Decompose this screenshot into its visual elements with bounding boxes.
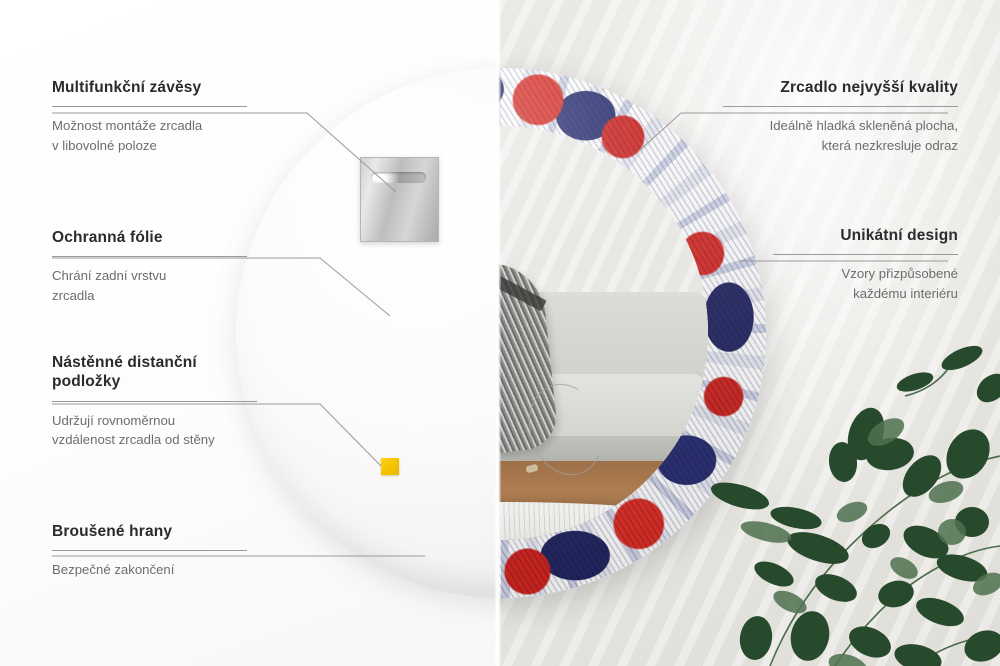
- callout-description: Ideálně hladká skleněná plocha, která ne…: [723, 116, 958, 154]
- panel-seam: [494, 0, 501, 666]
- callout-title: Multifunkční závěsy: [52, 78, 247, 97]
- callout-rule: [773, 254, 958, 255]
- callout-wall-distance-pads: Nástěnné distanční podložky Udržují rovn…: [52, 353, 257, 449]
- callout-description: Bezpečné zakončení: [52, 560, 247, 579]
- callout-rule: [52, 106, 247, 107]
- callout-rule: [52, 550, 247, 551]
- hanger-plate: [360, 157, 439, 242]
- callout-multifunctional-hangers: Multifunkční závěsy Možnost montáže zrca…: [52, 78, 247, 155]
- callout-description: Udržují rovnoměrnou vzdálenost zrcadla o…: [52, 411, 257, 449]
- callout-description: Chrání zadní vrstvu zrcadla: [52, 266, 247, 304]
- callout-description: Vzory přizpůsobené každému interiéru: [773, 264, 958, 302]
- callout-rule: [723, 106, 958, 107]
- callout-title: Broušené hrany: [52, 522, 247, 541]
- product-feature-infographic: Multifunkční závěsy Možnost montáže zrca…: [0, 0, 1000, 666]
- callout-title: Unikátní design: [773, 226, 958, 245]
- distance-pad-spacer: [381, 458, 399, 475]
- keyhole-slot-icon: [371, 172, 426, 183]
- callout-rule: [52, 401, 257, 402]
- mirror-back-edge: [236, 68, 497, 598]
- callout-ground-edges: Broušené hrany Bezpečné zakončení: [52, 522, 247, 580]
- callout-title: Nástěnné distanční podložky: [52, 353, 257, 392]
- callout-protective-foil: Ochranná fólie Chrání zadní vrstvu zrcad…: [52, 228, 247, 305]
- callout-highest-quality-mirror: Zrcadlo nejvyšší kvality Ideálně hladká …: [723, 78, 958, 155]
- callout-description: Možnost montáže zrcadla v libovolné polo…: [52, 116, 247, 154]
- callout-title: Zrcadlo nejvyšší kvality: [723, 78, 958, 97]
- glass-surface: [497, 126, 708, 539]
- callout-unique-design: Unikátní design Vzory přizpůsobené každé…: [773, 226, 958, 303]
- callout-title: Ochranná fólie: [52, 228, 247, 247]
- callout-rule: [52, 256, 247, 257]
